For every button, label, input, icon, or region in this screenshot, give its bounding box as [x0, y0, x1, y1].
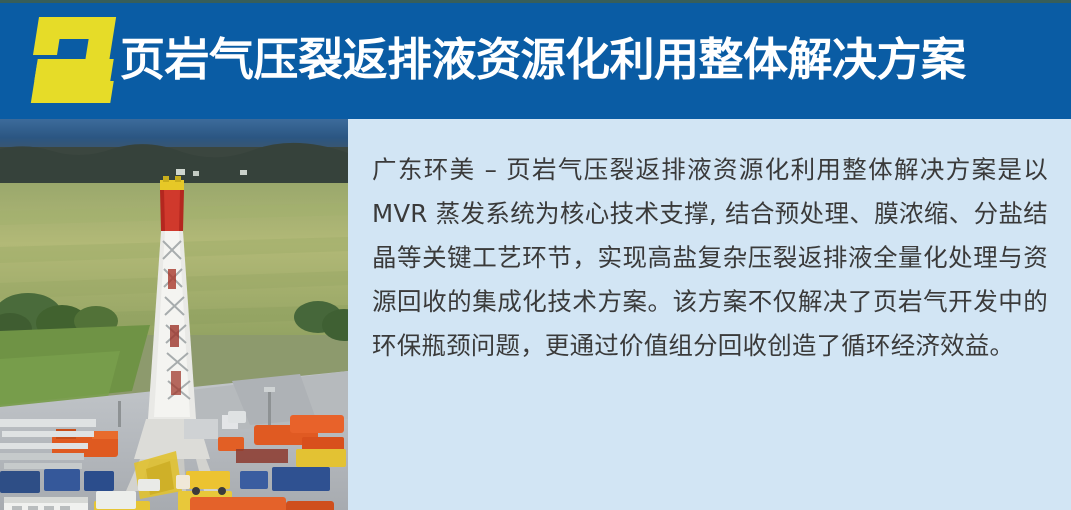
description-paragraph: 广东环美 – 页岩气压裂返排液资源化利用整体解决方案是以 MVR 蒸发系统为核心… [372, 148, 1048, 368]
rig-photo-illustration [0, 119, 348, 510]
badge-segment-bottom [32, 81, 113, 103]
badge-segment-upper-left [33, 17, 63, 55]
solution-section-card: 页岩气压裂返排液资源化利用整体解决方案 [0, 0, 1071, 510]
description-panel: 广东环美 – 页岩气压裂返排液资源化利用整体解决方案是以 MVR 蒸发系统为核心… [348, 119, 1071, 510]
header-content: 页岩气压裂返排液资源化利用整体解决方案 [0, 0, 1071, 119]
section-header-bar: 页岩气压裂返排液资源化利用整体解决方案 [0, 0, 1071, 119]
section-number-badge [34, 17, 112, 103]
rig-photo [0, 119, 348, 510]
section-title: 页岩气压裂返排液资源化利用整体解决方案 [120, 37, 966, 82]
